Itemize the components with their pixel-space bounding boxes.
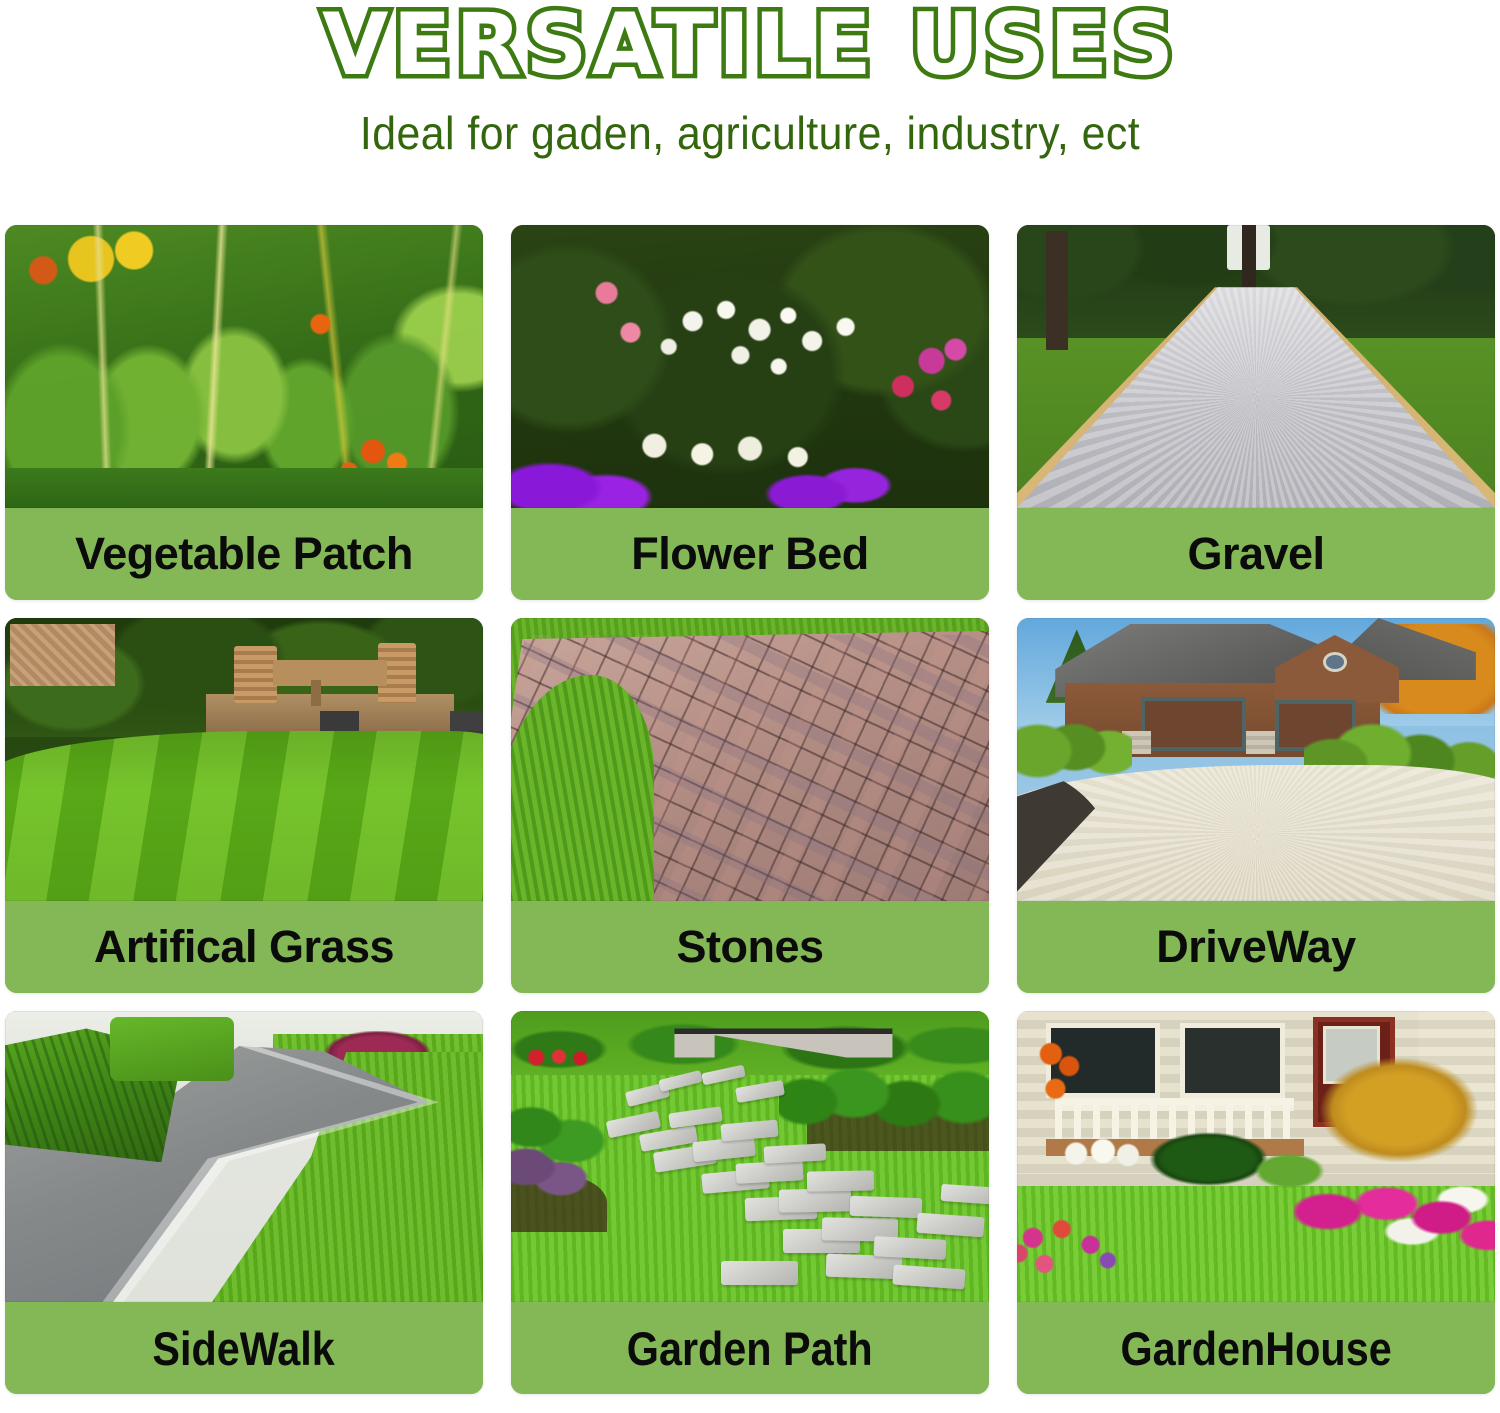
flower-bed-label-band: Flower Bed (511, 508, 989, 600)
vegetable-patch-photo (5, 225, 483, 508)
gardenhouse-label-band: GardenHouse (1017, 1302, 1495, 1394)
use-card-label: DriveWay (1156, 921, 1355, 973)
gardenhouse-photo (1017, 1011, 1495, 1302)
use-card-label: Artifical Grass (94, 921, 394, 973)
use-card-gardenhouse[interactable]: GardenHouse (1017, 1011, 1495, 1394)
use-card-gravel[interactable]: Gravel (1017, 225, 1495, 600)
use-card-sidewalk[interactable]: SideWalk (5, 1011, 483, 1394)
vegetable-patch-label-band: Vegetable Patch (5, 508, 483, 600)
garden-path-label-band: Garden Path (511, 1302, 989, 1394)
page-title: VERSATILE USES (0, 2, 1500, 90)
gravel-photo (1017, 225, 1495, 508)
use-card-garden-path[interactable]: Garden Path (511, 1011, 989, 1394)
stones-label-band: Stones (511, 901, 989, 993)
use-card-label: Flower Bed (631, 528, 869, 580)
garden-path-photo (511, 1011, 989, 1302)
flower-bed-photo (511, 225, 989, 508)
use-card-label: Garden Path (627, 1321, 873, 1376)
use-card-vegetable-patch[interactable]: Vegetable Patch (5, 225, 483, 600)
driveway-label-band: DriveWay (1017, 901, 1495, 993)
page-subtitle: Ideal for gaden, agriculture, industry, … (53, 106, 1448, 160)
stones-photo (511, 618, 989, 901)
infographic-page: VERSATILE USES Ideal for gaden, agricult… (0, 0, 1500, 1413)
sidewalk-label-band: SideWalk (5, 1302, 483, 1394)
sidewalk-photo (5, 1011, 483, 1302)
artifical-grass-photo (5, 618, 483, 901)
header: VERSATILE USES Ideal for gaden, agricult… (0, 0, 1500, 205)
use-card-label: GardenHouse (1120, 1321, 1391, 1376)
use-card-label: Gravel (1187, 528, 1324, 580)
use-card-label: Vegetable Patch (75, 528, 413, 580)
driveway-photo (1017, 618, 1495, 901)
use-card-label: SideWalk (153, 1321, 335, 1376)
uses-grid: Vegetable Patch Flower Bed (5, 225, 1495, 1413)
gravel-label-band: Gravel (1017, 508, 1495, 600)
use-card-flower-bed[interactable]: Flower Bed (511, 225, 989, 600)
use-card-label: Stones (676, 921, 823, 973)
use-card-driveway[interactable]: DriveWay (1017, 618, 1495, 993)
use-card-stones[interactable]: Stones (511, 618, 989, 993)
artifical-grass-label-band: Artifical Grass (5, 901, 483, 993)
use-card-artifical-grass[interactable]: Artifical Grass (5, 618, 483, 993)
